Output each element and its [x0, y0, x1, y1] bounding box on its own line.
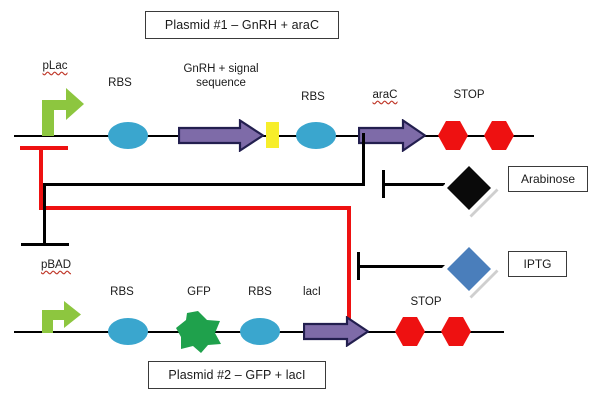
- repression-black-vertical-right: [362, 133, 365, 185]
- iptg-label-text: IPTG: [523, 257, 551, 271]
- repression-black-horizontal: [43, 183, 365, 186]
- diagram-canvas: Plasmid #1 – GnRH + araC pLac RBS GnRH +…: [0, 0, 600, 403]
- repression-red-tbar-head: [20, 146, 68, 150]
- plasmid1-title-box: Plasmid #1 – GnRH + araC: [145, 11, 339, 39]
- label-gnrh-signal-sequence: GnRH + signal sequence: [166, 62, 276, 90]
- label-laci: lacI: [294, 285, 330, 299]
- label-stop-1: STOP: [439, 88, 499, 102]
- label-gfp: GFP: [177, 285, 221, 299]
- label-arac: araC: [363, 88, 407, 102]
- iptg-diamond-icon: [438, 238, 500, 300]
- signal-sequence-block: [266, 122, 279, 148]
- repression-black-tbar-head: [21, 243, 69, 246]
- arabinose-label-text: Arabinose: [521, 172, 575, 186]
- plasmid2-title-box: Plasmid #2 – GFP + lacI: [148, 361, 326, 389]
- rbs-ellipse-4: [240, 318, 280, 345]
- cds-gnrh-arrow: [178, 119, 264, 152]
- gfp-star-icon: [175, 310, 221, 354]
- promoter-pbad-arrow: [40, 300, 83, 333]
- repression-red-vertical-right: [347, 206, 351, 331]
- cds-arac-arrow: [358, 119, 426, 152]
- rbs-ellipse-3: [108, 318, 148, 345]
- arabinose-label-box: Arabinose: [508, 166, 588, 192]
- iptg-label-box: IPTG: [508, 251, 567, 277]
- repression-red-horizontal: [39, 206, 351, 210]
- arabinose-connector-line: [382, 183, 445, 186]
- label-rbs-2: RBS: [291, 90, 335, 104]
- label-rbs-4: RBS: [238, 285, 282, 299]
- terminator-hexagon-1: [437, 120, 469, 151]
- label-rbs-3: RBS: [100, 285, 144, 299]
- arabinose-diamond-icon: [438, 157, 500, 219]
- cds-laci-arrow: [303, 316, 369, 347]
- iptg-connector-line: [357, 265, 445, 268]
- label-plac: pLac: [33, 59, 77, 73]
- plasmid2-title-text: Plasmid #2 – GFP + lacI: [168, 368, 305, 382]
- rbs-ellipse-2: [296, 122, 336, 149]
- plasmid1-title-text: Plasmid #1 – GnRH + araC: [165, 18, 319, 32]
- terminator-hexagon-4: [440, 316, 472, 347]
- label-stop-2: STOP: [396, 295, 456, 309]
- terminator-hexagon-2: [483, 120, 515, 151]
- promoter-plac-arrow: [40, 86, 86, 136]
- label-rbs-1: RBS: [98, 76, 142, 90]
- terminator-hexagon-3: [394, 316, 426, 347]
- rbs-ellipse-1: [108, 122, 148, 149]
- label-pbad: pBAD: [30, 258, 82, 272]
- repression-black-vertical-left: [43, 183, 46, 245]
